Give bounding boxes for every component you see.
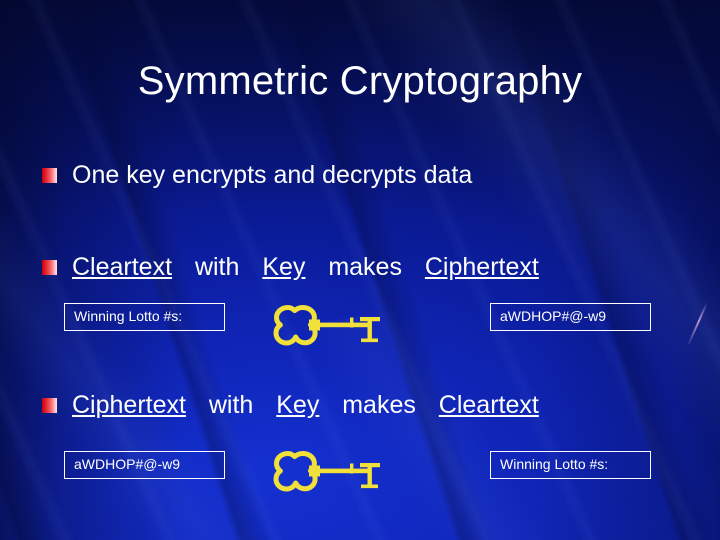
decrypt-input-text: aWDHOP#@-w9 xyxy=(74,456,180,473)
bullet-item-encrypt: Cleartext with Key makes Ciphertext xyxy=(42,252,539,282)
decrypt-output-box: Winning Lotto #s: xyxy=(490,451,651,479)
key-icon xyxy=(258,297,383,349)
term-ciphertext: Ciphertext xyxy=(72,391,186,419)
encrypt-output-text: aWDHOP#@-w9 xyxy=(500,308,606,325)
encrypt-output-box: aWDHOP#@-w9 xyxy=(490,303,651,331)
word-with: with xyxy=(209,391,253,419)
decrypt-input-box: aWDHOP#@-w9 xyxy=(64,451,225,479)
encrypt-input-text: Winning Lotto #s: xyxy=(74,308,182,325)
key-icon xyxy=(258,443,383,495)
term-cleartext: Cleartext xyxy=(72,253,172,281)
bullet-part: One key encrypts and decrypts data xyxy=(72,161,472,189)
term-cleartext: Cleartext xyxy=(439,391,539,419)
bullet-item-one-key: One key encrypts and decrypts data xyxy=(42,160,472,190)
word-makes: makes xyxy=(328,253,402,281)
bullet-square-icon xyxy=(42,398,57,413)
bullet-square-icon xyxy=(42,168,57,183)
page-title: Symmetric Cryptography xyxy=(0,57,720,105)
term-key: Key xyxy=(262,253,305,281)
term-ciphertext: Ciphertext xyxy=(425,253,539,281)
term-key: Key xyxy=(276,391,319,419)
bullet-text-one-key: One key encrypts and decrypts data xyxy=(72,160,472,190)
word-makes: makes xyxy=(342,391,416,419)
bullet-item-decrypt: Ciphertext with Key makes Cleartext xyxy=(42,390,539,420)
decrypt-output-text: Winning Lotto #s: xyxy=(500,456,608,473)
word-with: with xyxy=(195,253,239,281)
encrypt-input-box: Winning Lotto #s: xyxy=(64,303,225,331)
presentation-slide: Symmetric Cryptography One key encrypts … xyxy=(0,0,720,540)
bullet-text-decrypt: Ciphertext with Key makes Cleartext xyxy=(72,390,539,420)
bullet-square-icon xyxy=(42,260,57,275)
bullet-text-encrypt: Cleartext with Key makes Ciphertext xyxy=(72,252,539,282)
